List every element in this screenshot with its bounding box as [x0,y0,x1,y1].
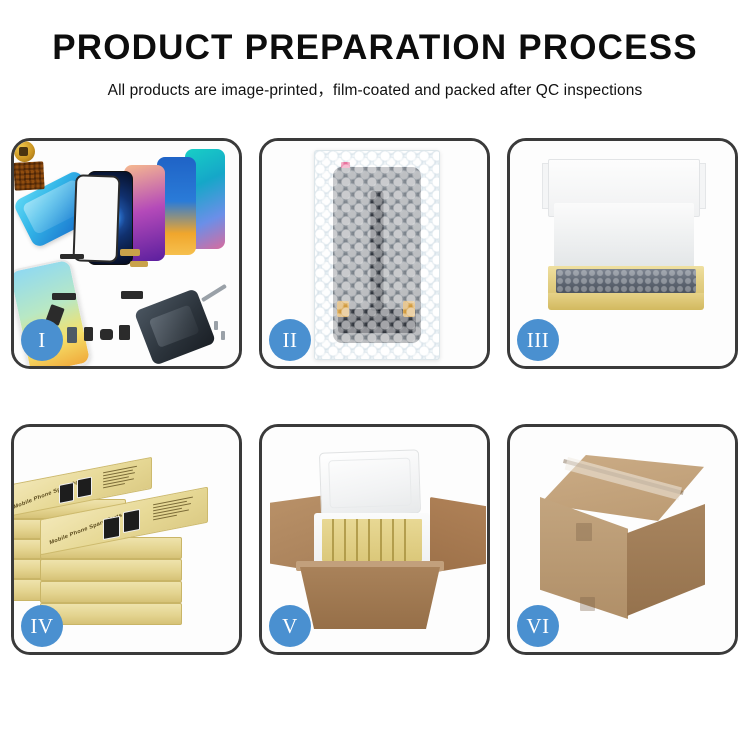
carton-side-face-icon [627,504,705,616]
carton-body-icon [300,567,440,629]
step-badge-2: II [269,319,311,361]
carton-flap-tab-upper-icon [576,523,592,541]
page-title: PRODUCT PREPARATION PROCESS [0,30,750,65]
box-print-phone-2a [103,516,120,540]
logic-board-chip-icon [13,161,44,191]
screw-b-icon [221,331,225,340]
stacked-box-right-2 [40,559,182,581]
earpiece-mesh-icon [60,254,84,259]
step-badge-3: III [517,319,559,361]
step-badge-6: VI [517,605,559,647]
process-step-grid: I II III [11,138,739,655]
vibration-motor-icon [14,141,35,162]
page-header: PRODUCT PREPARATION PROCESS All products… [0,0,750,100]
step-panel-5[interactable]: V [259,424,490,655]
page-subtitle: All products are image-printed，film-coat… [0,78,750,100]
gold-flex-tab-right-icon [403,301,415,317]
bubble-wrap-bag-icon [314,150,440,360]
sim-tray-icon [67,327,77,343]
stacked-box-right-3 [40,581,182,603]
connector-strip-icon [52,293,76,300]
gold-flex-tab-left-icon [337,301,349,317]
step-panel-6[interactable]: VI [507,424,738,655]
white-foam-sheet-icon [554,203,694,271]
step-badge-1: I [21,319,63,361]
small-module-icon [84,327,93,341]
gold-boxes-inside-icon [322,519,422,561]
step-panel-1[interactable]: I [11,138,242,369]
step-panel-3[interactable]: III [507,138,738,369]
box-print-phone-1a [59,482,74,504]
speaker-module-icon [100,329,113,340]
step-panel-2[interactable]: II [259,138,490,369]
foam-cooler-lid-icon [319,449,421,516]
carton-flap-tab-lower-icon [580,597,595,611]
camera-flex-icon [121,291,143,299]
flex-cable-a-icon [120,249,140,256]
pink-qc-sticker-icon [341,162,350,168]
box-print-phone-1b [77,476,92,498]
step-badge-4: IV [21,605,63,647]
box-print-lines-2 [153,497,193,523]
tweezers-icon [201,284,227,302]
box-print-lines-1 [103,466,137,491]
white-front-glass-icon [72,174,120,263]
step-panel-4[interactable]: Mobile Phone Spare Parts Mobile Phone Sp… [11,424,242,655]
gold-box-front-panel-icon [548,293,704,310]
box-print-phone-2b [123,509,140,533]
screw-a-icon [214,321,218,330]
step-badge-5: V [269,605,311,647]
battery-connector-icon [119,325,130,340]
flex-cable-b-icon [130,261,148,267]
dark-bubble-wrap-contents-icon [556,269,696,293]
